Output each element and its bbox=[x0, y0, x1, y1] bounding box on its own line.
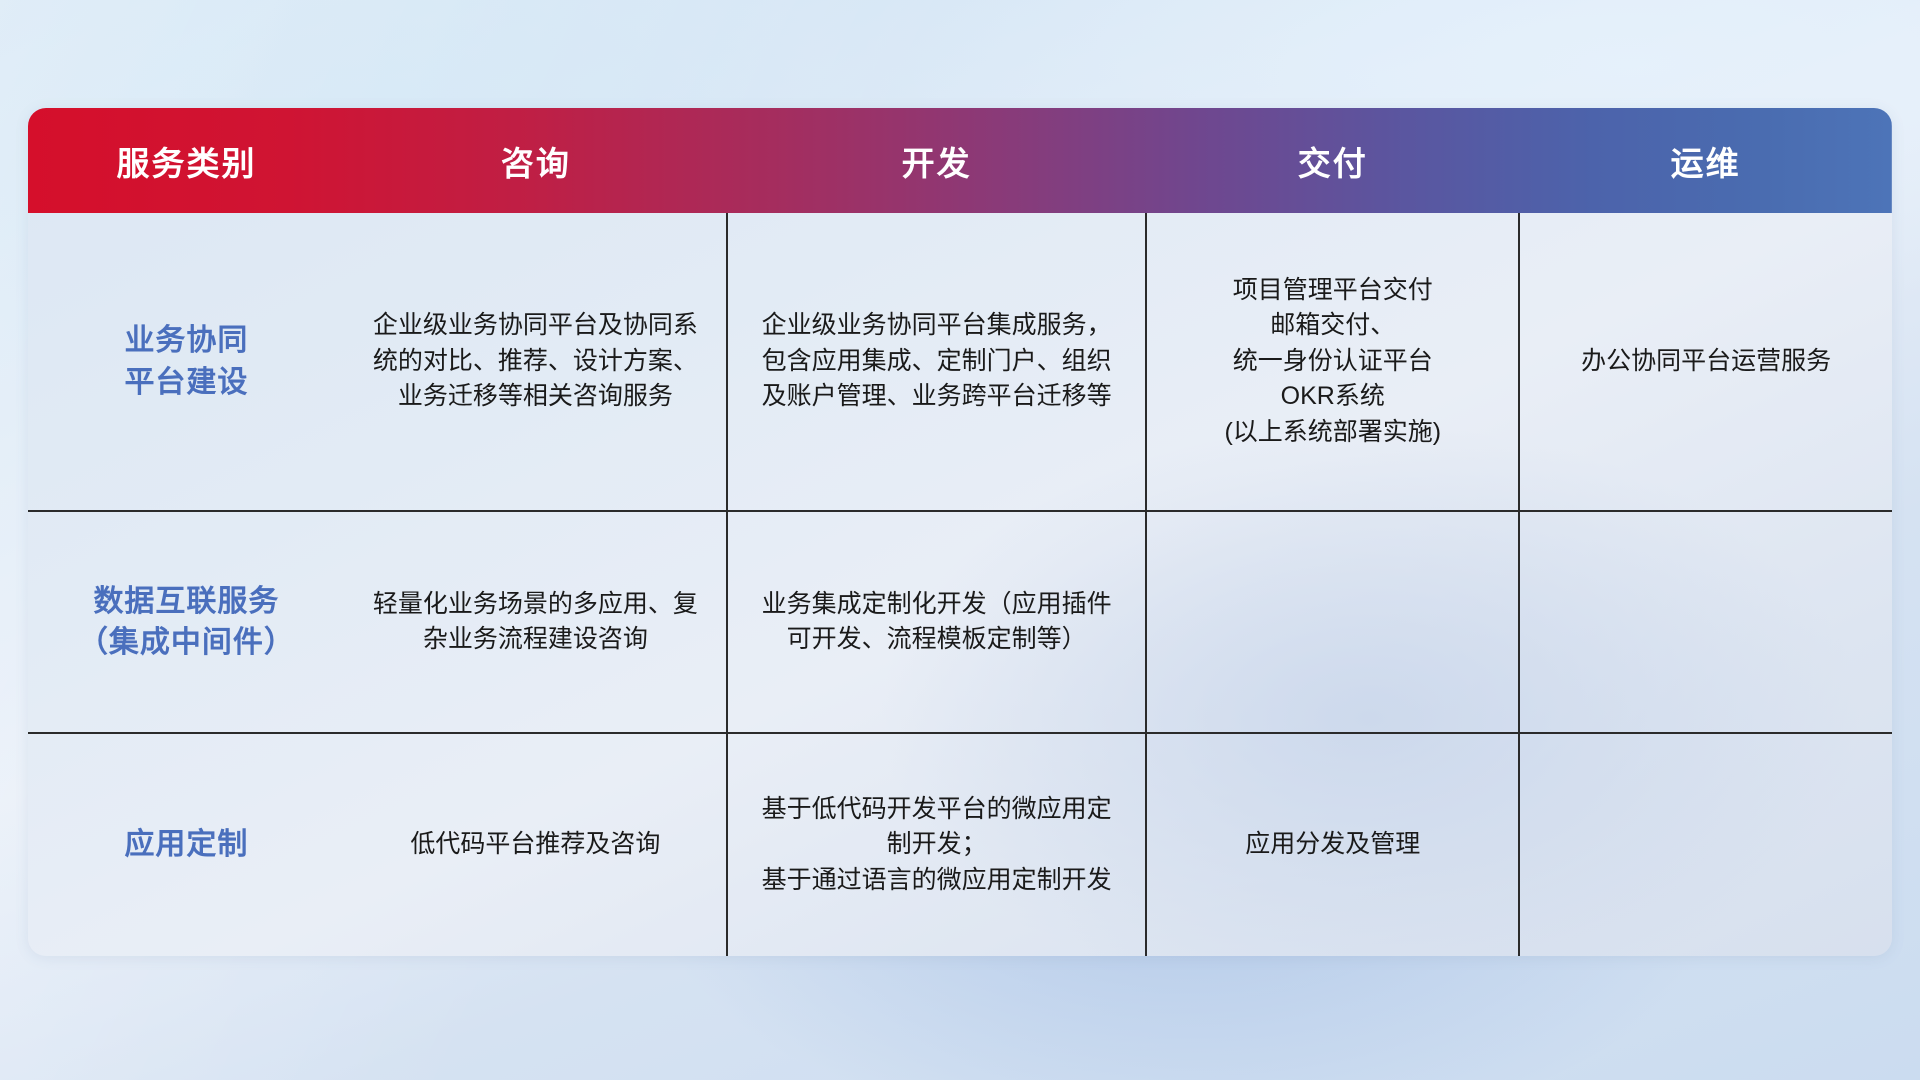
column-header-category: 服务类别 bbox=[28, 108, 345, 213]
table-row: 数据互联服务 （集成中间件） 轻量化业务场景的多应用、复 杂业务流程建设咨询 业… bbox=[28, 511, 1892, 733]
cell-develop: 企业级业务协同平台集成服务， 包含应用集成、定制门户、组织 及账户管理、业务跨平… bbox=[727, 213, 1146, 511]
row-category-label: 应用定制 bbox=[28, 733, 345, 956]
column-header-develop: 开发 bbox=[727, 108, 1146, 213]
cell-consult: 企业级业务协同平台及协同系 统的对比、推荐、设计方案、 业务迁移等相关咨询服务 bbox=[345, 213, 727, 511]
cell-develop: 基于低代码开发平台的微应用定 制开发； 基于通过语言的微应用定制开发 bbox=[727, 733, 1146, 956]
cell-operate bbox=[1519, 511, 1892, 733]
row-category-label: 数据互联服务 （集成中间件） bbox=[28, 511, 345, 733]
cell-consult: 低代码平台推荐及咨询 bbox=[345, 733, 727, 956]
table-header: 服务类别 咨询 开发 交付 运维 bbox=[28, 108, 1892, 213]
cell-operate: 办公协同平台运营服务 bbox=[1519, 213, 1892, 511]
row-category-label: 业务协同 平台建设 bbox=[28, 213, 345, 511]
column-header-deliver: 交付 bbox=[1146, 108, 1519, 213]
cell-deliver: 应用分发及管理 bbox=[1146, 733, 1519, 956]
service-matrix-table-container: 服务类别 咨询 开发 交付 运维 业务协同 平台建设 企业级业务协同平台及协同系… bbox=[28, 108, 1892, 956]
table-row: 业务协同 平台建设 企业级业务协同平台及协同系 统的对比、推荐、设计方案、 业务… bbox=[28, 213, 1892, 511]
cell-deliver: 项目管理平台交付 邮箱交付、 统一身份认证平台 OKR系统 (以上系统部署实施) bbox=[1146, 213, 1519, 511]
column-header-consult: 咨询 bbox=[345, 108, 727, 213]
table-body: 业务协同 平台建设 企业级业务协同平台及协同系 统的对比、推荐、设计方案、 业务… bbox=[28, 213, 1892, 956]
cell-operate bbox=[1519, 733, 1892, 956]
cell-deliver bbox=[1146, 511, 1519, 733]
table-row: 应用定制 低代码平台推荐及咨询 基于低代码开发平台的微应用定 制开发； 基于通过… bbox=[28, 733, 1892, 956]
service-matrix-table: 服务类别 咨询 开发 交付 运维 业务协同 平台建设 企业级业务协同平台及协同系… bbox=[28, 108, 1892, 956]
table-header-row: 服务类别 咨询 开发 交付 运维 bbox=[28, 108, 1892, 213]
cell-consult: 轻量化业务场景的多应用、复 杂业务流程建设咨询 bbox=[345, 511, 727, 733]
column-header-operate: 运维 bbox=[1519, 108, 1892, 213]
cell-develop: 业务集成定制化开发（应用插件 可开发、流程模板定制等） bbox=[727, 511, 1146, 733]
